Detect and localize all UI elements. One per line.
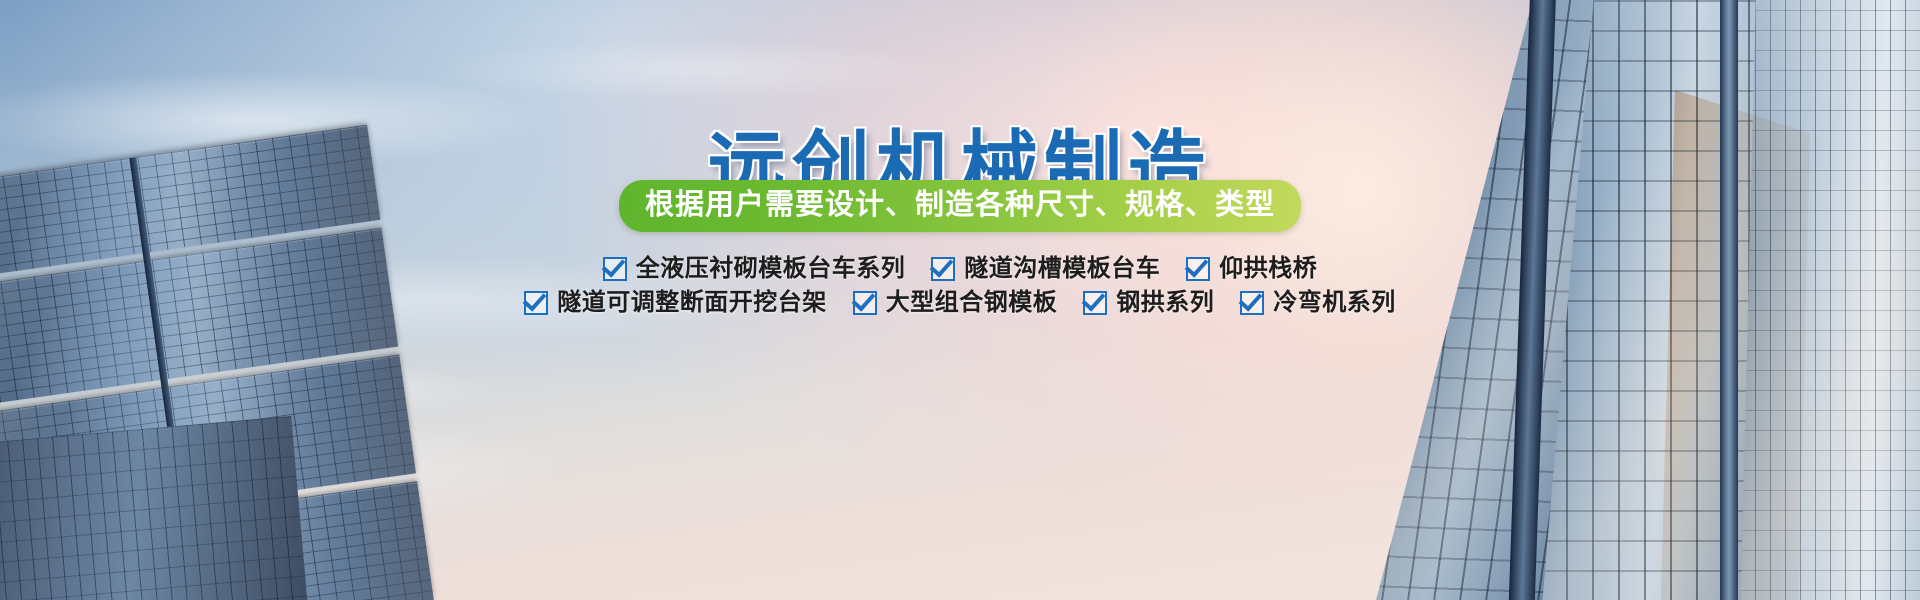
checkbox-checked-icon	[1083, 291, 1107, 315]
feature-label: 大型组合钢模板	[886, 290, 1058, 316]
checkbox-checked-icon	[524, 291, 548, 315]
feature-label: 全液压衬砌模板台车系列	[636, 256, 906, 282]
feature-row-1: 全液压衬砌模板台车系列 隧道沟槽模板台车 仰拱栈桥	[0, 256, 1920, 282]
feature-label: 仰拱栈桥	[1219, 256, 1317, 282]
subtitle-container: 根据用户需要设计、制造各种尺寸、规格、类型	[0, 180, 1920, 232]
feature-label: 隧道沟槽模板台车	[964, 256, 1160, 282]
checkbox-checked-icon	[603, 257, 627, 281]
feature-label: 冷弯机系列	[1273, 290, 1396, 316]
feature-label: 钢拱系列	[1116, 290, 1214, 316]
feature-item[interactable]: 全液压衬砌模板台车系列	[603, 256, 906, 282]
feature-item[interactable]: 冷弯机系列	[1240, 290, 1396, 316]
checkbox-checked-icon	[1240, 291, 1264, 315]
feature-item[interactable]: 仰拱栈桥	[1186, 256, 1317, 282]
checkbox-checked-icon	[931, 257, 955, 281]
feature-item[interactable]: 大型组合钢模板	[853, 290, 1058, 316]
feature-item[interactable]: 钢拱系列	[1083, 290, 1214, 316]
feature-item[interactable]: 隧道可调整断面开挖台架	[524, 290, 827, 316]
feature-label: 隧道可调整断面开挖台架	[557, 290, 827, 316]
subtitle-pill: 根据用户需要设计、制造各种尺寸、规格、类型	[619, 180, 1301, 232]
feature-list: 全液压衬砌模板台车系列 隧道沟槽模板台车 仰拱栈桥 隧道可调整断面开挖台架	[0, 256, 1920, 324]
checkbox-checked-icon	[1186, 257, 1210, 281]
hero-banner: 远创机械制造 根据用户需要设计、制造各种尺寸、规格、类型 全液压衬砌模板台车系列…	[0, 0, 1920, 600]
feature-item[interactable]: 隧道沟槽模板台车	[931, 256, 1160, 282]
feature-row-2: 隧道可调整断面开挖台架 大型组合钢模板 钢拱系列 冷弯机系列	[0, 290, 1920, 316]
checkbox-checked-icon	[853, 291, 877, 315]
